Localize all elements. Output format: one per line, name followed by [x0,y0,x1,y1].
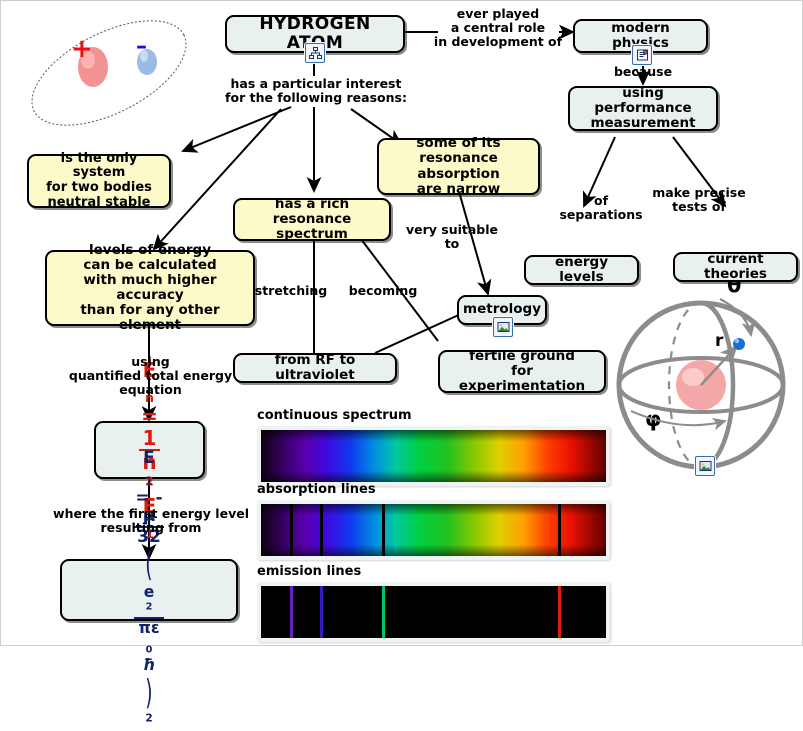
spectrum-continuous-title: continuous spectrum [257,408,610,423]
spectrum-emission-bar [261,586,606,638]
label-of-separations: of separations [556,194,646,222]
image-icon[interactable] [493,317,513,337]
label-using-quantified-equation: using quantified total energy equation [48,355,253,397]
formula-e1: E1 = - μ 32 ( e2 πε0ħ )2 [134,449,164,731]
formula-e1-lhs: E1 [134,449,164,488]
label-where-first-energy-level: where the first energy level resulting f… [31,507,271,535]
node-from-rf-to-ultraviolet[interactable]: from RF to ultraviolet [233,353,397,383]
node-current-theories[interactable]: current theories [673,252,798,282]
spectrum-emission-frame [257,582,610,642]
node-fertile-ground[interactable]: fertile ground for experimentation [438,350,606,393]
node-resonance-absorption-narrow[interactable]: some of its resonance absorption are nar… [377,138,540,195]
node-rf-to-uv-label: from RF to ultraviolet [243,353,387,383]
node-fertile-ground-label: fertile ground for experimentation [448,349,596,394]
open-paren: ( [141,546,157,584]
node-rich-spectrum-label: has a rich resonance spectrum [243,197,381,242]
label-very-suitable-to: very suitable to [404,223,500,251]
spectral-line [320,504,323,556]
label-make-precise-tests-of: make precise tests of [644,186,754,214]
spectral-line [290,504,293,556]
label-because: because [607,65,679,79]
document-icon[interactable] [632,45,652,65]
close-paren: ) [141,674,157,712]
label-stretching: stretching [246,284,336,298]
node-only-system-label: is the only system for two bodies neutra… [37,152,161,210]
spectrum-absorption-title: absorption lines [257,482,610,497]
image-icon[interactable] [695,456,715,476]
formula-e1-inner-fraction: e2 πε0ħ [134,584,164,673]
concept-map-canvas: + – Proton Electron HYDROGEN ATOM modern… [0,0,803,646]
node-only-system[interactable]: is the only system for two bodies neutra… [27,154,171,208]
spectral-line [290,586,293,638]
spectral-line [382,504,385,556]
spectrum-emission: emission lines [257,564,610,642]
concept-map-icon[interactable] [305,43,325,63]
spectrum-continuous: continuous spectrum [257,408,610,486]
spectrum-continuous-frame [257,426,610,486]
node-formula-e1[interactable]: E1 = - μ 32 ( e2 πε0ħ )2 [60,559,238,621]
node-energy-levels-label: energy levels [534,255,629,285]
spectrum-absorption-frame [257,500,610,560]
node-using-performance-label: using performance measurement [578,86,708,131]
spectrum-absorption: absorption lines [257,482,610,560]
node-levels-of-energy[interactable]: levels of energy can be calculated with … [45,250,255,326]
label-particular-interest: has a particular interest for the follow… [214,77,418,105]
spectral-line [558,504,561,556]
node-energy-levels[interactable]: energy levels [524,255,639,285]
node-using-performance-measurement[interactable]: using performance measurement [568,86,718,131]
node-resonance-narrow-label: some of its resonance absorption are nar… [387,136,530,196]
label-ever-played: ever played a central role in developmen… [423,7,573,49]
spectral-line [320,586,323,638]
spectral-line [382,586,385,638]
formula-e1-eq: = - [134,489,164,508]
formula-en-eq: = [139,405,159,427]
spectrum-continuous-bar [261,430,606,482]
node-current-theories-label: current theories [683,252,788,282]
label-becoming: becoming [338,284,428,298]
spectrum-absorption-bar [261,504,606,556]
node-metrology-label: metrology [463,302,541,317]
spectrum-emission-title: emission lines [257,564,610,579]
spectral-line [558,586,561,638]
node-levels-of-energy-label: levels of energy can be calculated with … [55,243,245,334]
node-rich-resonance-spectrum[interactable]: has a rich resonance spectrum [233,198,391,241]
formula-e1-outer-exp: 2 [145,712,152,724]
